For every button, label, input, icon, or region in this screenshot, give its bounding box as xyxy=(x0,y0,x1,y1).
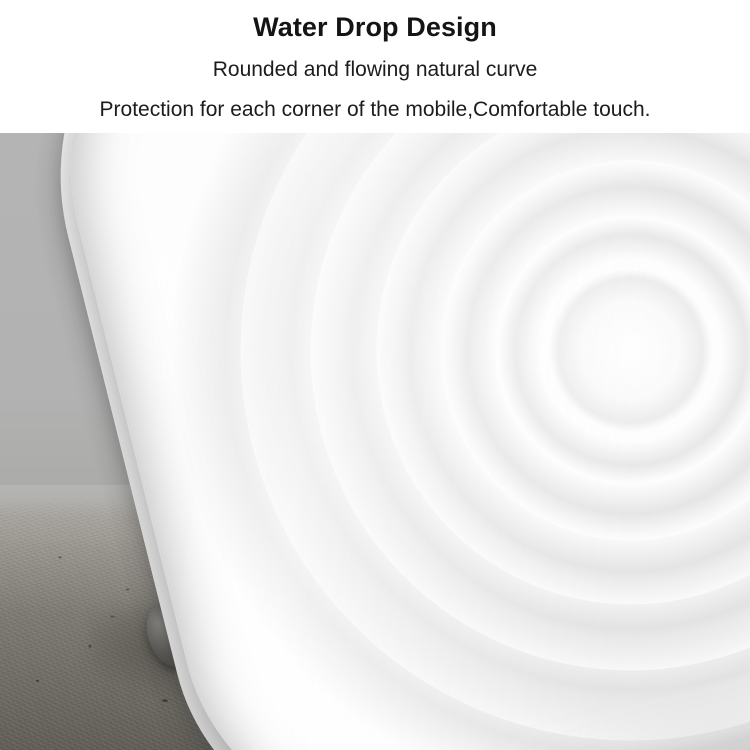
product-photo xyxy=(0,133,750,750)
subtitle-line-1: Rounded and flowing natural curve xyxy=(0,57,750,83)
subtitle-line-2: Protection for each corner of the mobile… xyxy=(0,97,750,123)
product-feature-image: Water Drop Design Rounded and flowing na… xyxy=(0,0,750,750)
page-title: Water Drop Design xyxy=(0,11,750,43)
caption-banner: Water Drop Design Rounded and flowing na… xyxy=(0,0,750,133)
